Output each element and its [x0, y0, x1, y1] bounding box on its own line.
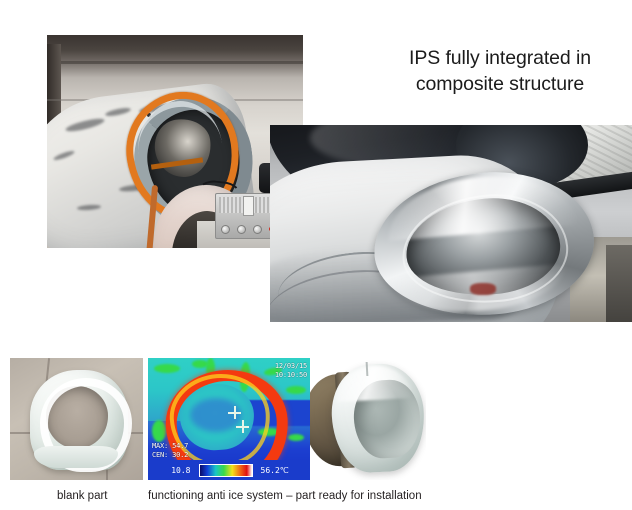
photo-installed-polished-lip	[270, 125, 632, 322]
ir-warm-blob	[152, 420, 166, 442]
page-title-line-1: IPS fully integrated in	[378, 45, 622, 71]
power-supply-knob	[237, 225, 246, 234]
blank-part-base	[34, 446, 118, 468]
background-red-object	[470, 283, 496, 295]
page-title: IPS fully integrated in composite struct…	[378, 45, 622, 97]
ir-warm-blob	[286, 386, 306, 394]
ir-cen-readout: CEN: 30.2	[152, 451, 188, 460]
power-supply-display	[243, 196, 254, 216]
slide-canvas: IPS fully integrated in composite struct…	[0, 0, 632, 510]
ir-max-readout: MAX: 54.7	[152, 442, 188, 451]
photo-thermal-ir-image: 12/03/15 10:10:50 MAX: 54.7 CEN: 30.2 10…	[148, 358, 312, 480]
page-title-line-2: composite structure	[378, 71, 622, 97]
photo-blank-part	[10, 358, 143, 480]
ir-date: 12/03/15	[275, 362, 307, 371]
ir-max-label: MAX:	[152, 442, 168, 450]
ir-timestamp: 12/03/15 10:10:50	[275, 362, 307, 379]
power-supply-knob	[221, 225, 230, 234]
ir-cen-label: CEN:	[152, 451, 168, 459]
ir-readouts: MAX: 54.7 CEN: 30.2	[152, 442, 188, 459]
ir-scale-max-value: 56.2℃	[261, 466, 289, 475]
ir-cen-value: 30.2	[172, 451, 188, 459]
ir-measurement-crosshair	[228, 406, 241, 419]
ir-max-value: 54.7	[172, 442, 188, 450]
ir-measurement-crosshair	[236, 420, 249, 433]
ir-time: 10:10:50	[275, 371, 307, 380]
wall-seam-upper	[47, 61, 303, 64]
ir-warm-blob	[288, 434, 304, 441]
photo-nacelle-lip-with-orange-band	[47, 35, 303, 248]
caption-blank-part: blank part	[57, 490, 108, 502]
background-wall-dark	[606, 245, 632, 322]
photo-finished-part	[310, 358, 426, 480]
ir-color-palette-bar	[199, 464, 253, 477]
power-supply-knob	[253, 225, 262, 234]
ir-temperature-scale: 10.8 56.2℃	[148, 460, 312, 480]
ir-scale-min-value: 10.8	[171, 466, 190, 475]
ir-warm-blob	[154, 364, 180, 373]
caption-anti-ice-system: functioning anti ice system – part ready…	[148, 490, 422, 502]
